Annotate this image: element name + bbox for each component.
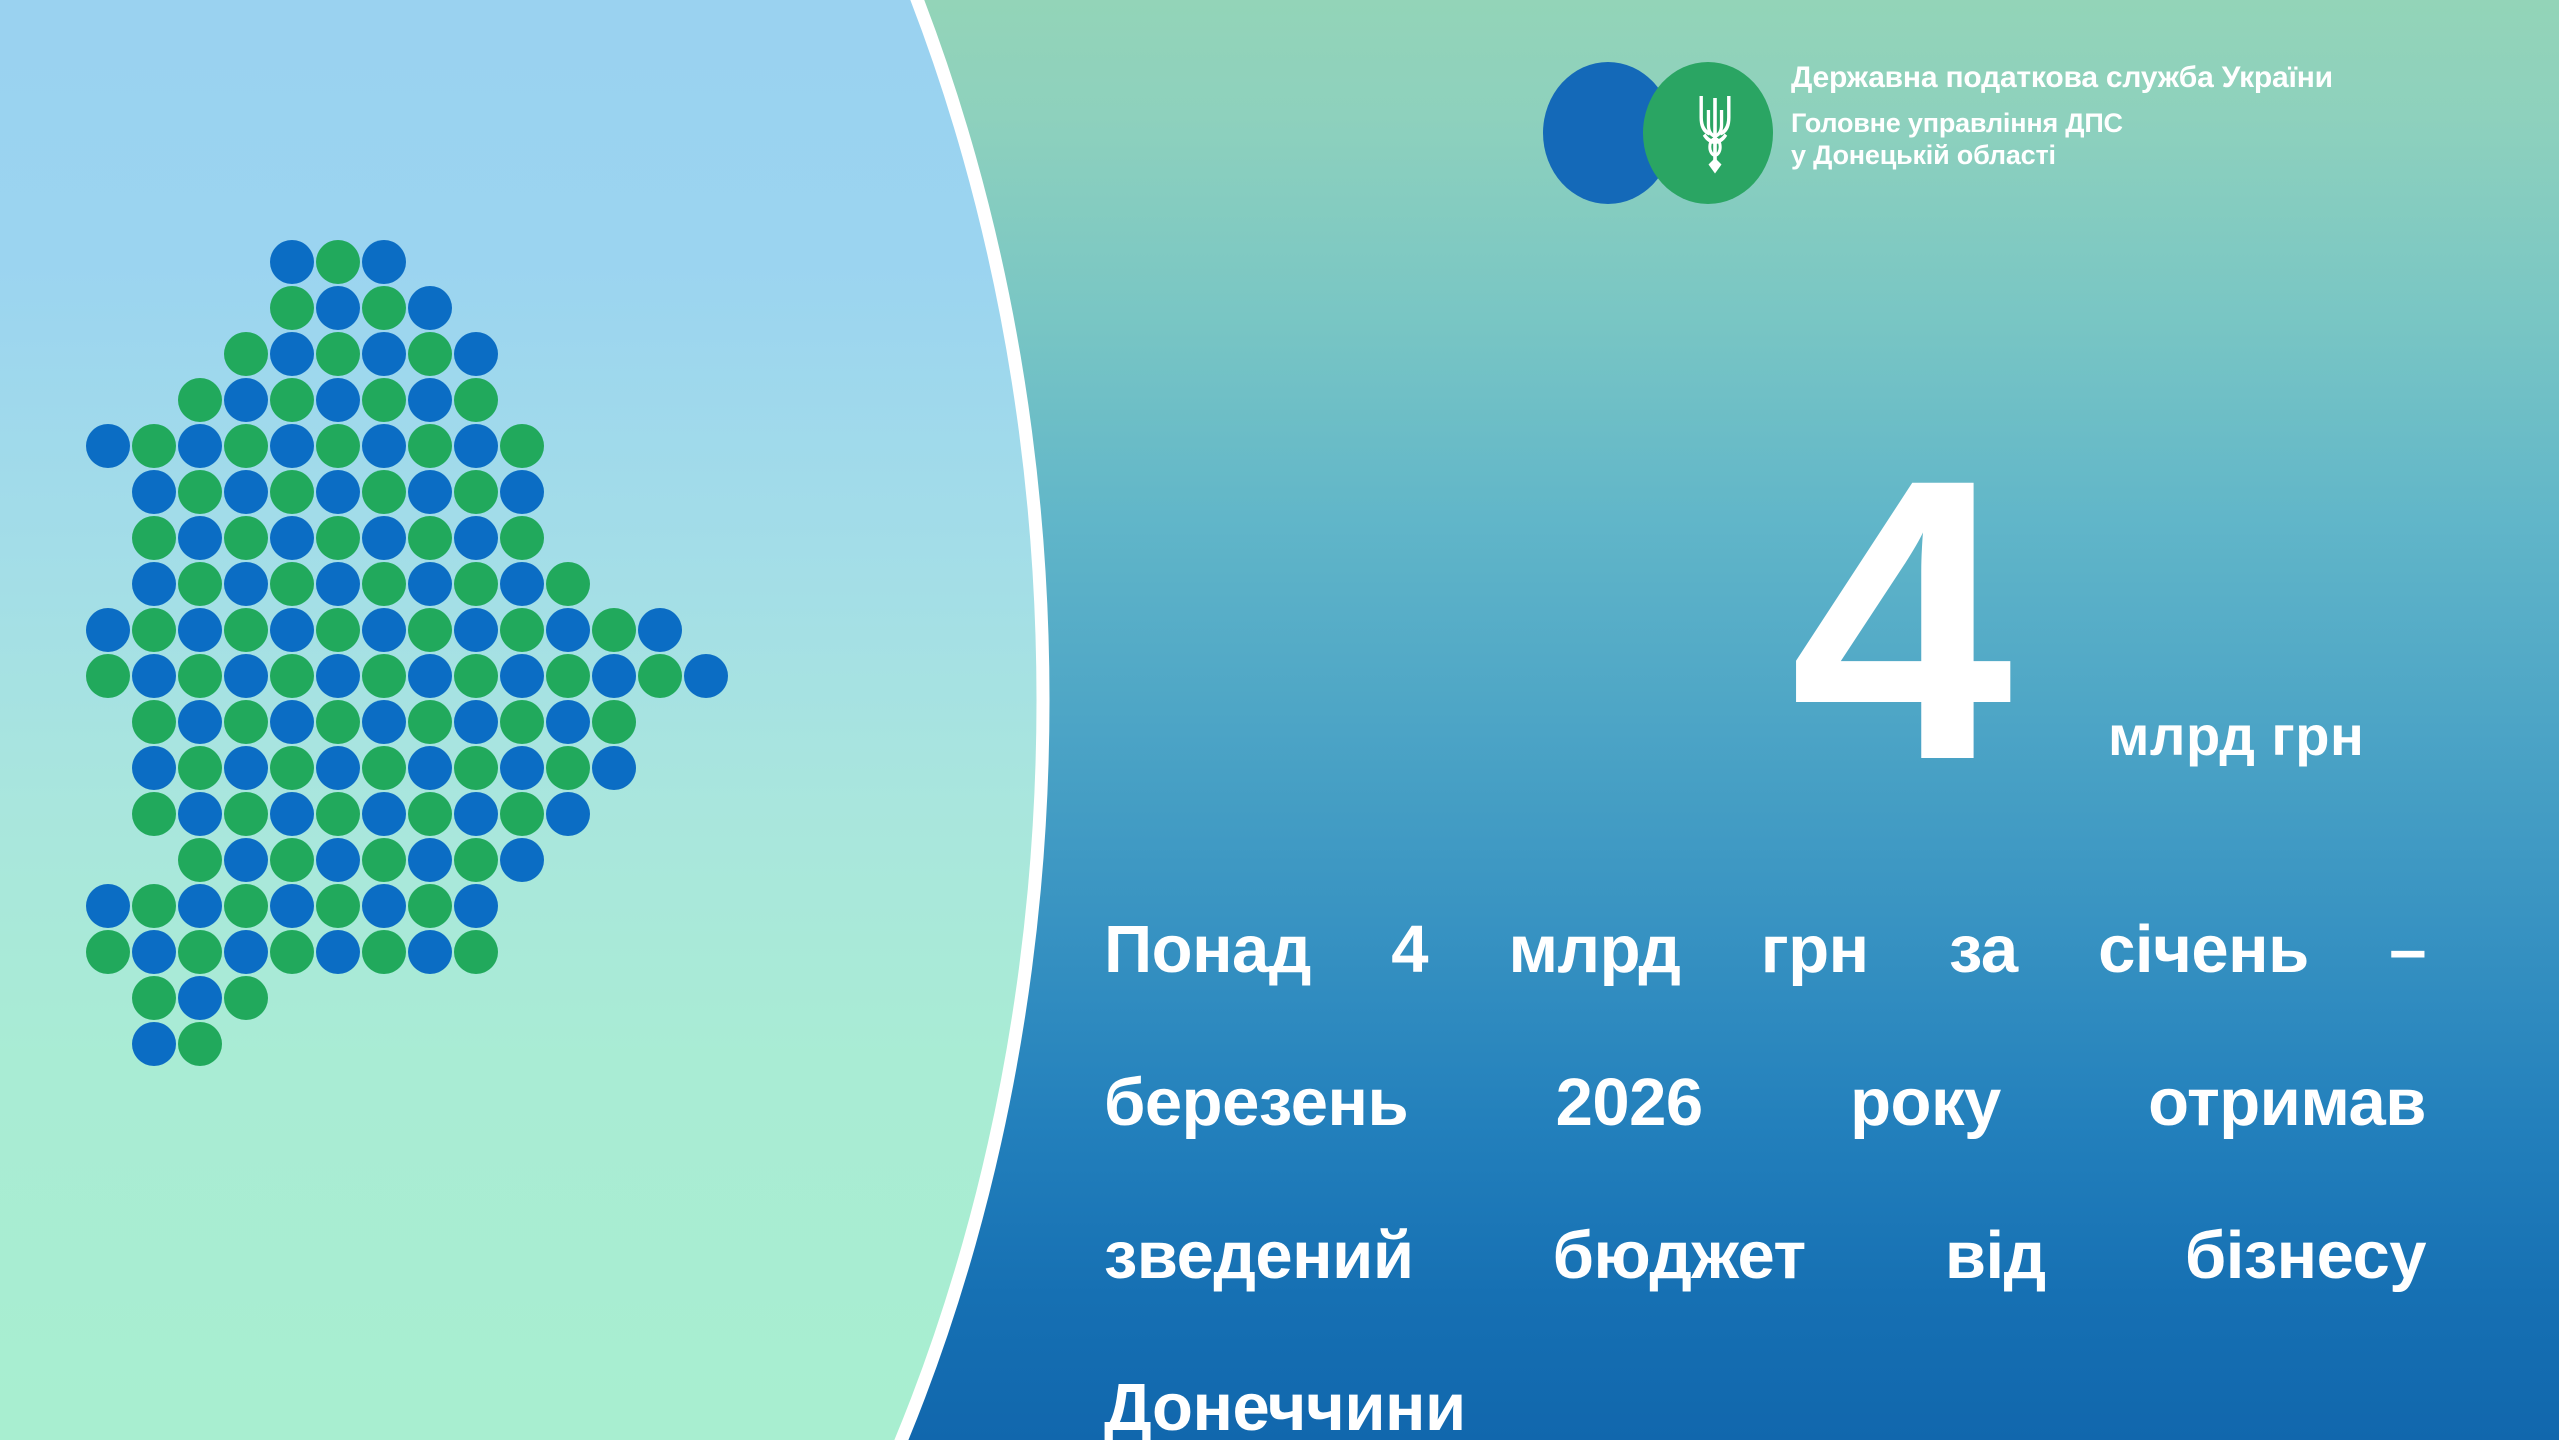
map-dot [316, 700, 360, 744]
map-dot [592, 746, 636, 790]
map-dot [270, 884, 314, 928]
map-dot [224, 976, 268, 1020]
map-dot [224, 746, 268, 790]
map-dot [362, 332, 406, 376]
map-dot [362, 746, 406, 790]
map-dot [454, 930, 498, 974]
map-dot [178, 884, 222, 928]
map-dot [408, 792, 452, 836]
map-dot [454, 746, 498, 790]
map-dot [316, 470, 360, 514]
map-dot [500, 608, 544, 652]
map-dot [132, 976, 176, 1020]
dps-logo: Державна податкова служба України Головн… [1543, 62, 2333, 204]
map-dot [500, 792, 544, 836]
map-dot [500, 562, 544, 606]
map-dot [316, 286, 360, 330]
map-dot [500, 470, 544, 514]
map-dot [178, 654, 222, 698]
map-dot [270, 332, 314, 376]
map-dot [132, 884, 176, 928]
map-dot [684, 654, 728, 698]
map-dot [316, 516, 360, 560]
map-dot [362, 516, 406, 560]
map-dot [408, 286, 452, 330]
map-dot [362, 470, 406, 514]
headline-line-1: Понад 4 млрд грн за січень – [1104, 912, 2426, 1065]
map-dot [362, 608, 406, 652]
map-dot [270, 608, 314, 652]
map-dot [270, 930, 314, 974]
map-dot [500, 700, 544, 744]
map-dot [270, 700, 314, 744]
map-dot [362, 286, 406, 330]
map-dot [316, 930, 360, 974]
map-dot [270, 286, 314, 330]
map-dot [316, 240, 360, 284]
map-dot [270, 562, 314, 606]
map-dot [408, 470, 452, 514]
logo-department-line1: Головне управління ДПС [1791, 108, 2333, 140]
map-dot [270, 470, 314, 514]
map-dot [178, 976, 222, 1020]
map-dot [86, 654, 130, 698]
map-dot [178, 424, 222, 468]
ukraine-trident-icon [1693, 90, 1737, 176]
map-dot [408, 700, 452, 744]
map-dot [454, 470, 498, 514]
map-dot [454, 424, 498, 468]
map-dot [132, 424, 176, 468]
map-dot [86, 930, 130, 974]
map-dot [270, 654, 314, 698]
map-dot [362, 700, 406, 744]
map-dot [316, 654, 360, 698]
map-dot [270, 838, 314, 882]
map-dot [224, 608, 268, 652]
map-dot [270, 516, 314, 560]
map-dot [178, 608, 222, 652]
map-dot [224, 332, 268, 376]
logo-marks [1543, 62, 1773, 204]
map-dot [454, 332, 498, 376]
map-dot [408, 608, 452, 652]
logo-org-name: Державна податкова служба України [1791, 62, 2333, 94]
map-dot [362, 424, 406, 468]
map-dot [546, 746, 590, 790]
headline-line-4: Донеччини [1104, 1370, 2426, 1440]
map-dot [638, 654, 682, 698]
map-dot [178, 1022, 222, 1066]
map-dot [178, 930, 222, 974]
map-dot [454, 378, 498, 422]
map-dot [362, 654, 406, 698]
map-dot [454, 654, 498, 698]
map-dot [546, 700, 590, 744]
map-dot [224, 654, 268, 698]
map-dot [316, 838, 360, 882]
map-dot [270, 378, 314, 422]
map-dot [270, 240, 314, 284]
map-dot [316, 424, 360, 468]
map-dot [316, 332, 360, 376]
map-dot [454, 562, 498, 606]
map-dot [178, 838, 222, 882]
map-dot [316, 562, 360, 606]
map-dot [224, 838, 268, 882]
map-dot [454, 700, 498, 744]
map-dot [132, 746, 176, 790]
stat-unit: млрд грн [2108, 708, 2364, 764]
map-dot [270, 792, 314, 836]
map-dot [408, 838, 452, 882]
headline: Понад 4 млрд грн за січень – березень 20… [1104, 912, 2426, 1440]
map-dot [270, 424, 314, 468]
map-dot [270, 746, 314, 790]
logo-text-block: Державна податкова служба України Головн… [1791, 62, 2333, 172]
map-dot [408, 516, 452, 560]
map-dot [224, 516, 268, 560]
map-dot [224, 424, 268, 468]
map-dot [178, 746, 222, 790]
map-dot [132, 792, 176, 836]
map-dot [408, 930, 452, 974]
map-dot [316, 792, 360, 836]
map-dot [132, 516, 176, 560]
map-dot [132, 654, 176, 698]
map-dot [500, 424, 544, 468]
map-dot [408, 562, 452, 606]
map-dot [178, 792, 222, 836]
map-dot [408, 884, 452, 928]
map-dot [546, 654, 590, 698]
map-dot [408, 424, 452, 468]
map-dot [362, 930, 406, 974]
logo-department-line2: у Донецькій області [1791, 140, 2333, 172]
map-dot [132, 930, 176, 974]
map-dot [592, 654, 636, 698]
map-dot [408, 654, 452, 698]
map-dot [132, 700, 176, 744]
map-dot [224, 930, 268, 974]
map-dot [86, 884, 130, 928]
map-dot [546, 792, 590, 836]
map-dot [224, 884, 268, 928]
map-dot [316, 884, 360, 928]
map-dot [454, 884, 498, 928]
map-dot [454, 608, 498, 652]
map-dot [224, 700, 268, 744]
map-dot [86, 608, 130, 652]
map-dot [362, 792, 406, 836]
map-dot [178, 516, 222, 560]
map-dot [132, 470, 176, 514]
map-dot [592, 700, 636, 744]
map-dot [638, 608, 682, 652]
map-dot [362, 378, 406, 422]
map-dot [454, 516, 498, 560]
map-dot [362, 562, 406, 606]
donetsk-oblast-dot-map [0, 0, 1050, 1440]
map-dot [316, 608, 360, 652]
map-dot [178, 700, 222, 744]
infographic-canvas: Державна податкова служба України Головн… [0, 0, 2559, 1440]
map-dot [316, 378, 360, 422]
map-dot [178, 470, 222, 514]
map-dot [316, 746, 360, 790]
map-dot [408, 378, 452, 422]
map-dot [178, 562, 222, 606]
map-dot [362, 838, 406, 882]
map-dot [408, 746, 452, 790]
stat-value: 4 [1790, 420, 2006, 820]
map-dot [546, 562, 590, 606]
map-dot [362, 240, 406, 284]
map-dot [408, 332, 452, 376]
map-dot [454, 792, 498, 836]
map-dot [362, 884, 406, 928]
map-dot [454, 838, 498, 882]
headline-line-3: зведений бюджет від бізнесу [1104, 1218, 2426, 1371]
map-dot [132, 562, 176, 606]
headline-line-2: березень 2026 року отримав [1104, 1065, 2426, 1218]
map-dot [178, 378, 222, 422]
map-dot [224, 562, 268, 606]
map-dot [224, 470, 268, 514]
map-dot [500, 746, 544, 790]
map-dot [132, 1022, 176, 1066]
map-dot [132, 608, 176, 652]
map-dot [592, 608, 636, 652]
map-dot [546, 608, 590, 652]
map-dot [86, 424, 130, 468]
map-dot [224, 792, 268, 836]
map-dot [500, 516, 544, 560]
map-dot [500, 654, 544, 698]
map-dot [224, 378, 268, 422]
map-dot [500, 838, 544, 882]
